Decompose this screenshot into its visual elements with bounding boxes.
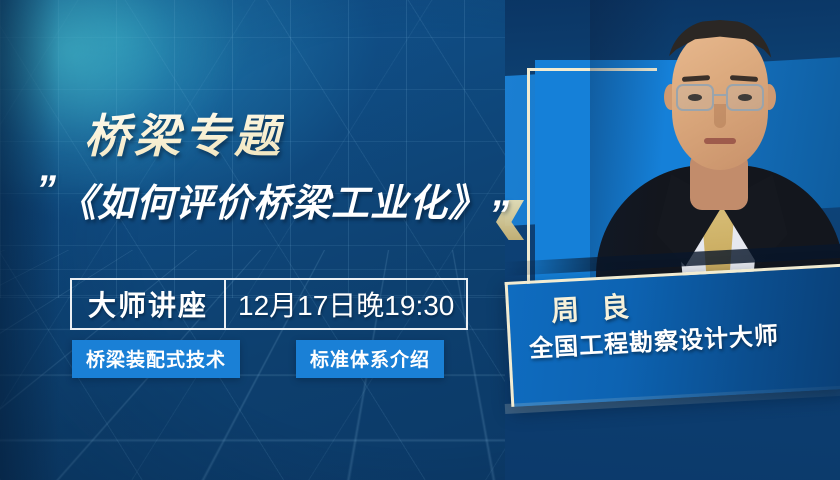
quote-close-icon: ”	[489, 199, 507, 231]
topic-tag: 桥梁装配式技术	[72, 340, 240, 378]
page-title: 桥梁专题	[84, 100, 284, 166]
speaker-nameplate: 周 良 全国工程勘察设计大师	[505, 264, 840, 407]
topic-tag: 标准体系介绍	[296, 340, 444, 378]
lecture-type-label: 大师讲座	[72, 280, 224, 328]
lecture-datetime: 12月17日晚19:30	[226, 280, 466, 328]
subtitle-row: ” 《如何评价桥梁工业化》 ”	[36, 172, 507, 227]
lecture-info-box: 大师讲座 12月17日晚19:30	[70, 278, 468, 330]
nameplate-content: 周 良 全国工程勘察设计大师	[508, 267, 840, 407]
webinar-poster: 周 良 全国工程勘察设计大师 桥梁专题 ” 《如何评价桥梁工业化》 ” 大师讲座…	[0, 0, 840, 480]
quote-open-icon: ”	[36, 174, 54, 206]
topic-tag-list: 桥梁装配式技术 标准体系介绍	[72, 340, 444, 378]
subtitle-text: 《如何评价桥梁工业化》	[58, 172, 487, 227]
